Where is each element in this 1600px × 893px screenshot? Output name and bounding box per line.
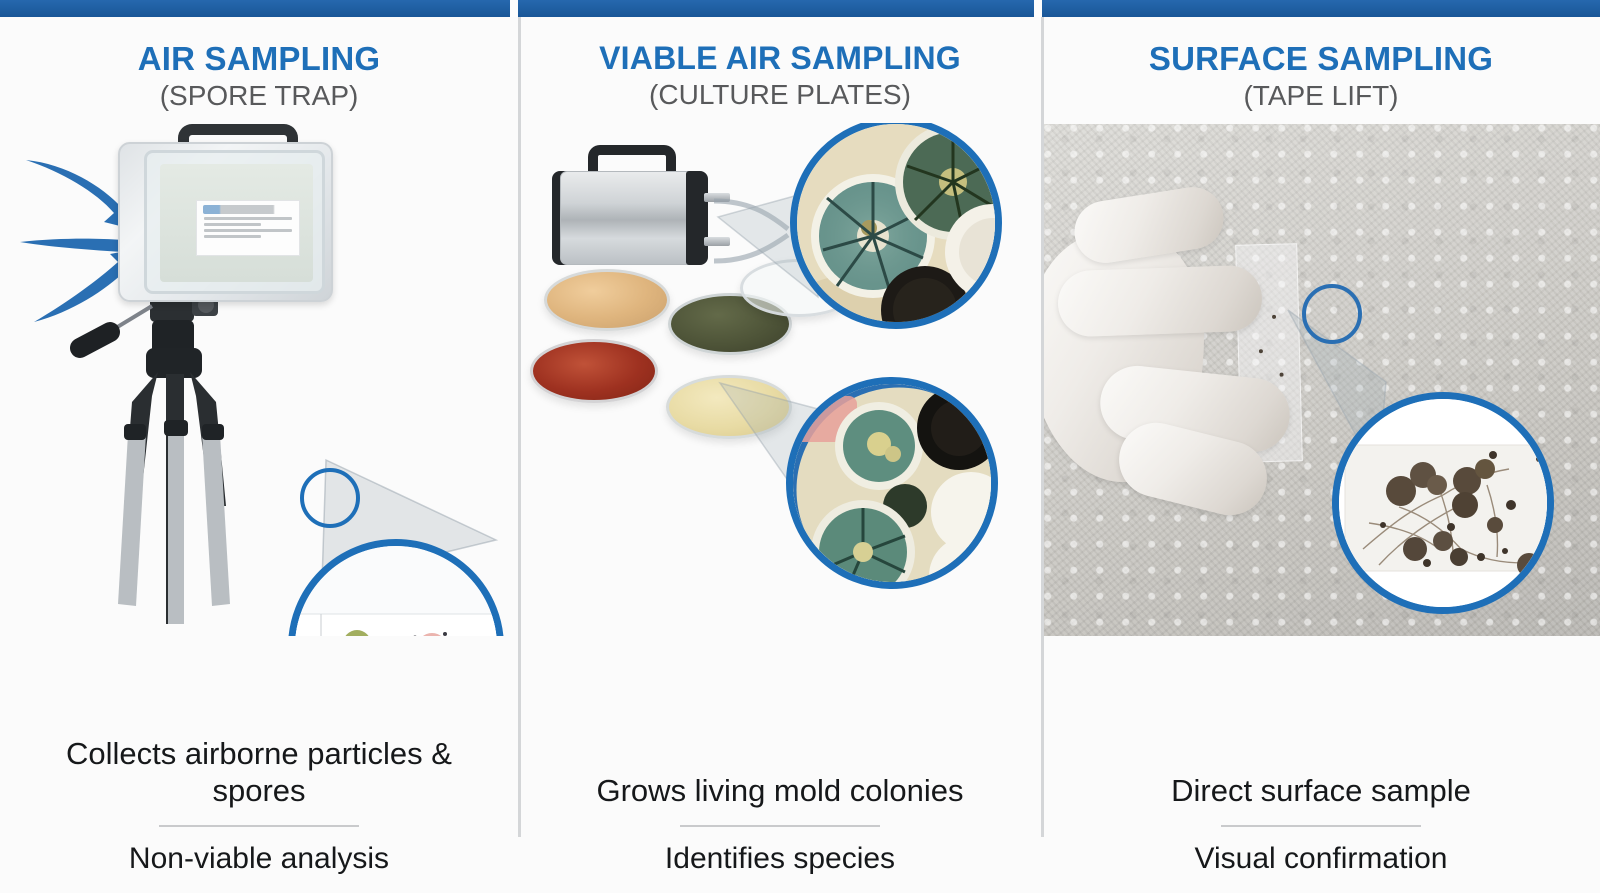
cassette-label-line — [204, 223, 261, 226]
glove-index-finger — [1070, 183, 1228, 268]
top-accent-bar — [0, 0, 1600, 17]
panel-2-subtitle: (CULTURE PLATES) — [518, 79, 1042, 111]
panel-air-sampling: AIR SAMPLING (SPORE TRAP) — [0, 17, 518, 893]
panel-1-caption-sub: Non-viable analysis — [26, 841, 492, 877]
panel-3-subtitle: (TAPE LIFT) — [1042, 80, 1600, 112]
panel-divider-2 — [1041, 17, 1044, 837]
cassette-label — [196, 200, 300, 256]
gloved-hand — [1044, 176, 1274, 506]
cassette-label-line — [204, 217, 292, 220]
panel-1-title: AIR SAMPLING — [0, 41, 518, 78]
top-accent-segment-2 — [518, 0, 1034, 17]
panel-viable-air-sampling: VIABLE AIR SAMPLING (CULTURE PLATES) — [518, 17, 1042, 893]
top-accent-segment-3 — [1042, 0, 1600, 17]
panel-2-caption: Grows living mold colonies Identifies sp… — [518, 772, 1042, 877]
panel-2-header: VIABLE AIR SAMPLING (CULTURE PLATES) — [518, 17, 1042, 111]
panel-1-caption-rule — [159, 825, 359, 827]
tape-lift-magnifier — [1332, 392, 1554, 614]
top-accent-segment-1 — [0, 0, 510, 17]
panel-3-caption: Direct surface sample Visual confirmatio… — [1042, 772, 1600, 877]
panel-3-title: SURFACE SAMPLING — [1042, 41, 1600, 78]
pump-end-cap — [686, 171, 708, 265]
panel-columns: AIR SAMPLING (SPORE TRAP) — [0, 17, 1600, 893]
cassette-label-line — [204, 235, 261, 238]
panel-3-header: SURFACE SAMPLING (TAPE LIFT) — [1042, 17, 1600, 112]
panel-2-caption-main: Grows living mold colonies — [544, 772, 1016, 809]
glove-middle-finger — [1057, 265, 1263, 338]
spore-trap-cassette — [118, 142, 333, 302]
magnifier-focus-ring-3 — [1294, 276, 1370, 352]
magnifier-focus-ring-1 — [288, 464, 368, 534]
panel-surface-sampling: SURFACE SAMPLING (TAPE LIFT) — [1042, 17, 1600, 893]
panel-2-caption-sub: Identifies species — [544, 841, 1016, 877]
tan-agar-dish — [544, 269, 670, 331]
panel-1-header: AIR SAMPLING (SPORE TRAP) — [0, 17, 518, 112]
cassette-label-logo-icon — [203, 205, 293, 214]
air-pump-device — [546, 145, 718, 273]
panel-2-caption-rule — [680, 825, 880, 827]
panel-1-caption: Collects airborne particles & spores Non… — [0, 735, 518, 877]
panel-3-caption-sub: Visual confirmation — [1068, 841, 1574, 877]
panel-2-photo — [518, 123, 1042, 635]
blood-agar-dish — [530, 339, 658, 403]
panel-3-photo — [1042, 124, 1600, 636]
panel-3-caption-main: Direct surface sample — [1068, 772, 1574, 809]
panel-1-photo — [0, 124, 518, 636]
cassette-label-line — [204, 229, 292, 232]
panel-2-title: VIABLE AIR SAMPLING — [518, 41, 1042, 77]
infographic-root: AIR SAMPLING (SPORE TRAP) — [0, 0, 1600, 893]
pump-body — [560, 171, 700, 265]
panel-1-caption-main: Collects airborne particles & spores — [26, 735, 492, 809]
mold-colony-magnifier-bottom — [786, 377, 998, 589]
panel-divider-1 — [518, 17, 521, 837]
panel-1-subtitle: (SPORE TRAP) — [0, 80, 518, 112]
panel-3-caption-rule — [1221, 825, 1421, 827]
mold-colony-magnifier-top — [790, 123, 1002, 329]
